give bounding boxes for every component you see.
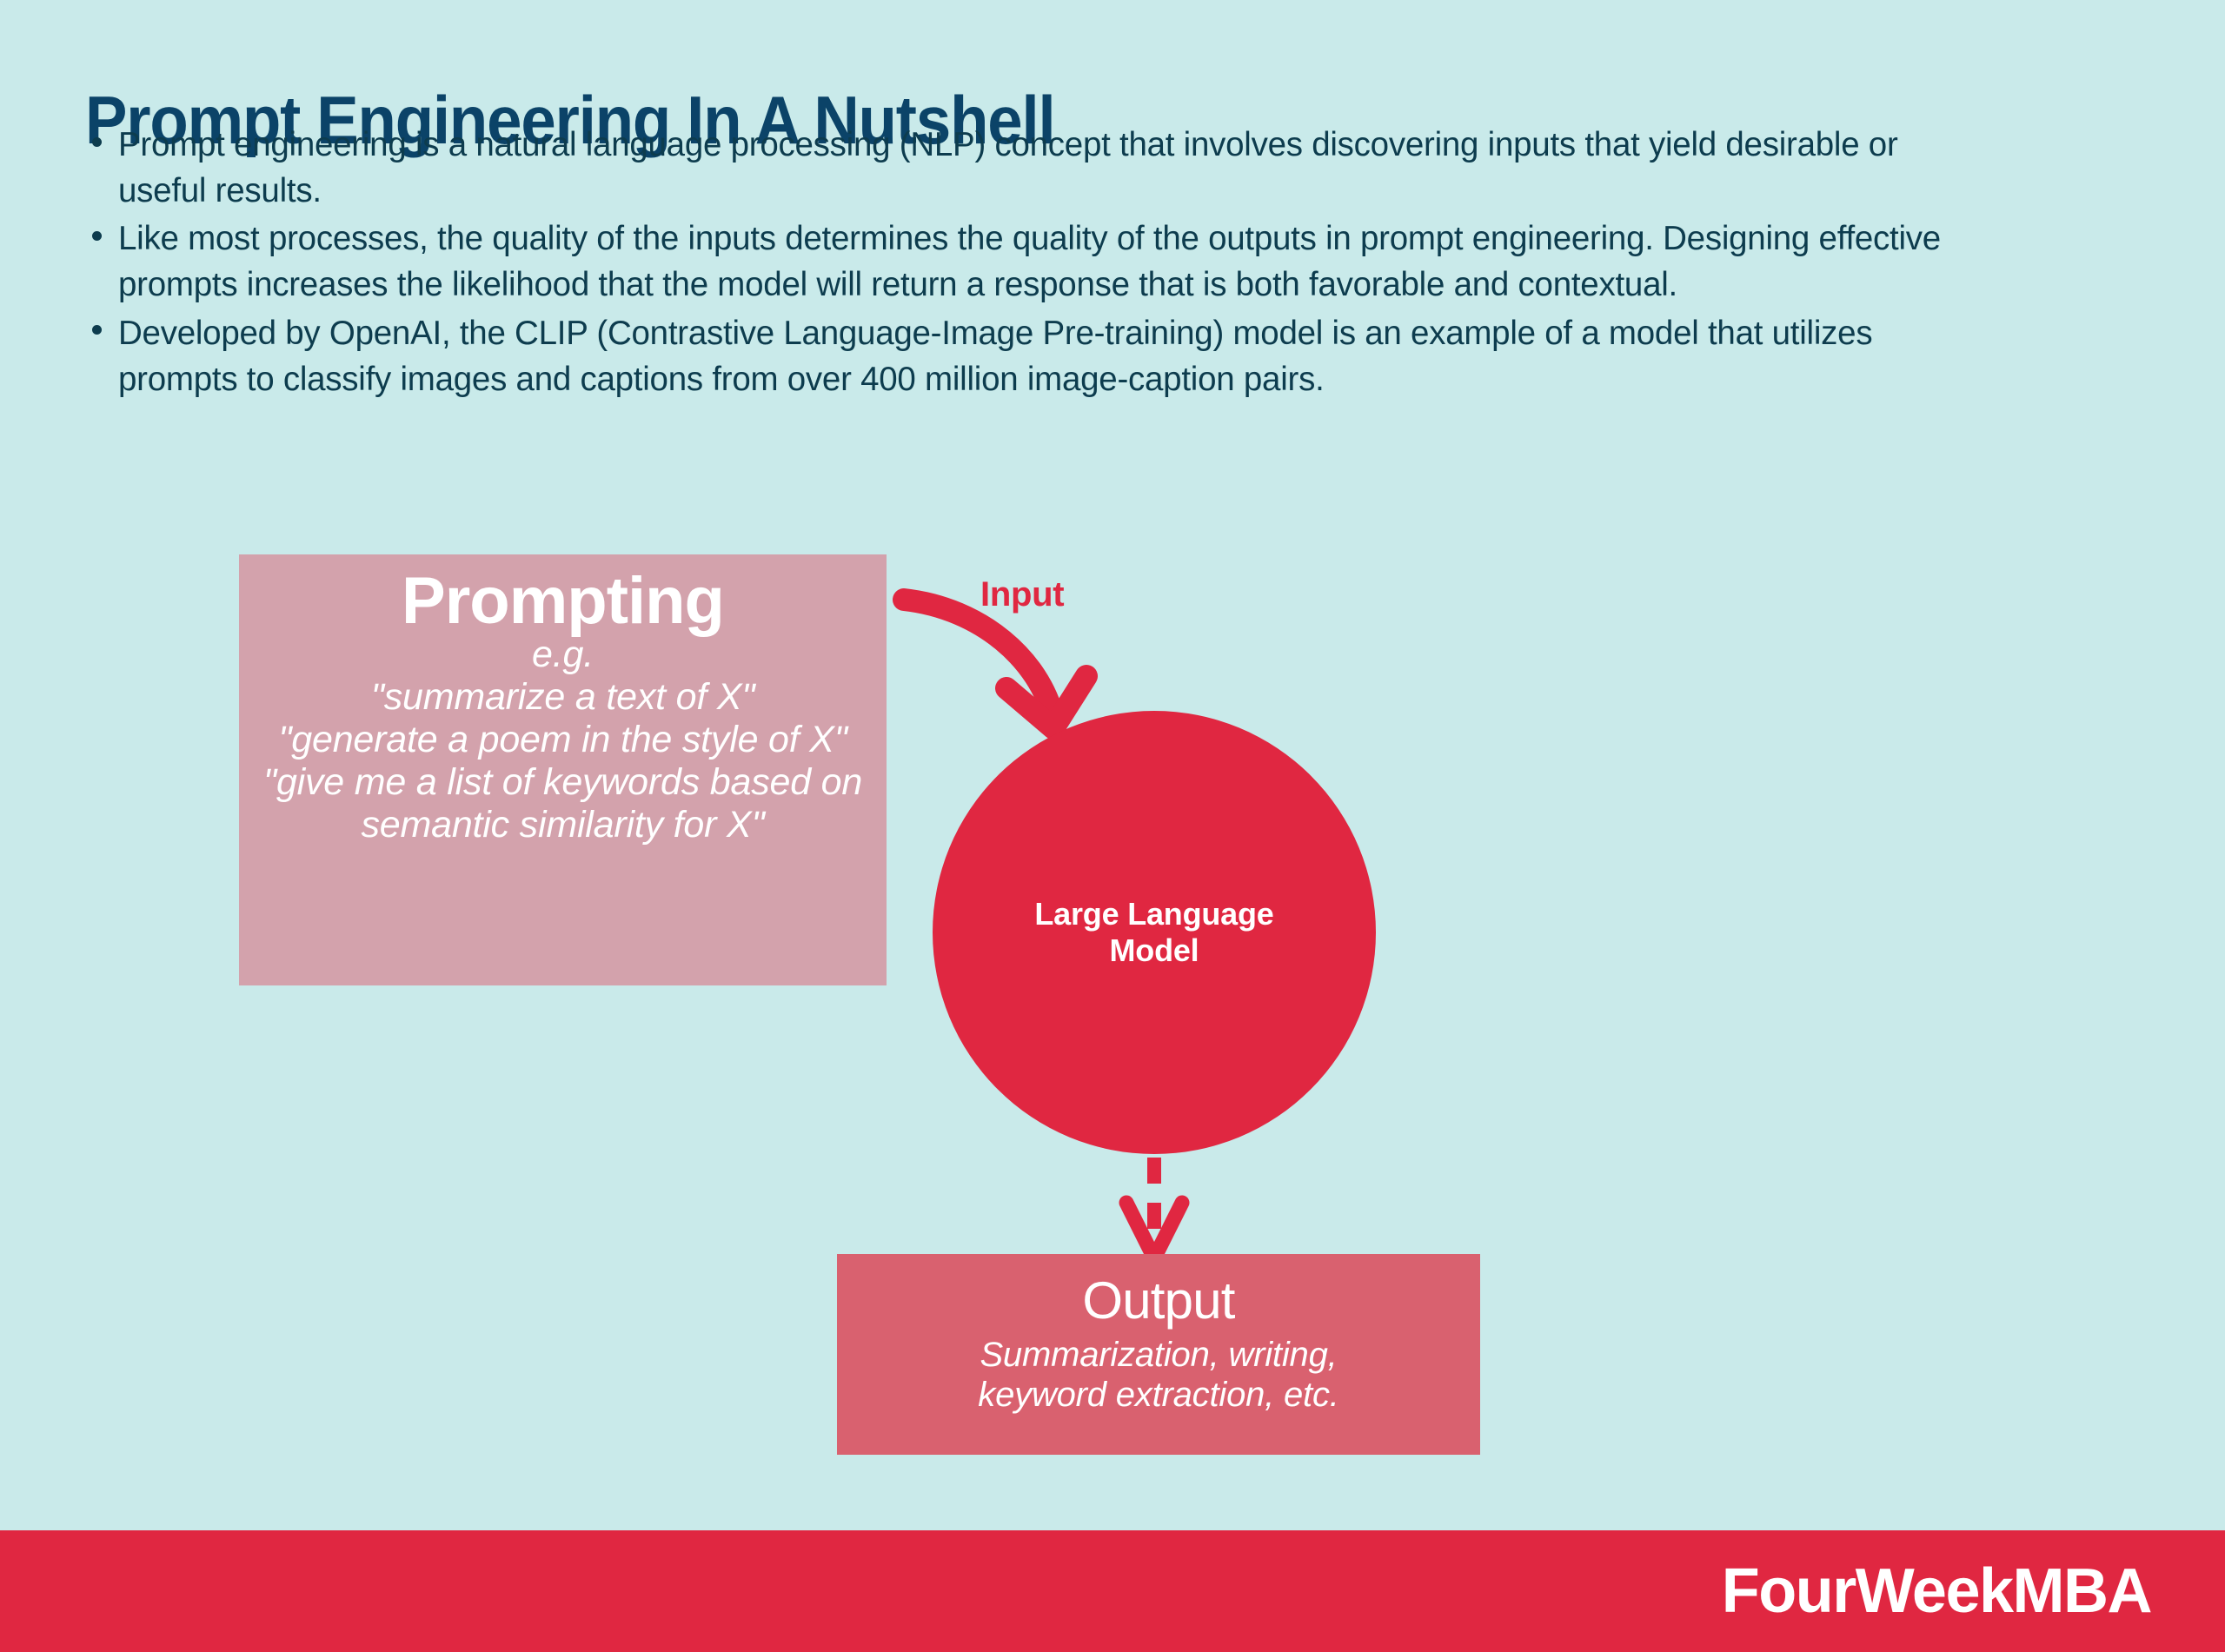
bullet-dot-icon xyxy=(92,231,102,241)
infographic-canvas: Prompt Engineering In A Nutshell Prompt … xyxy=(0,0,2225,1652)
llm-label: Large Language Model xyxy=(1034,896,1273,970)
prompting-eg-label: e.g. xyxy=(246,634,880,676)
prompting-box: Prompting e.g. "summarize a text of X" "… xyxy=(239,554,887,985)
footer-bar: FourWeekMBA xyxy=(0,1530,2225,1652)
output-box: Output Summarization, writing, keyword e… xyxy=(837,1254,1480,1455)
prompting-example: "give me a list of keywords based on sem… xyxy=(246,761,880,846)
bullet-text: Prompt engineering is a natural language… xyxy=(118,126,1898,209)
output-arrow-icon xyxy=(1126,1158,1182,1258)
input-arrow-label: Input xyxy=(980,575,1064,614)
input-arrow-icon xyxy=(904,600,1086,728)
bullet-dot-icon xyxy=(92,137,102,147)
bullet-list: Prompt engineering is a natural language… xyxy=(87,122,1982,404)
prompting-example: "generate a poem in the style of X" xyxy=(246,719,880,761)
bullet-text: Like most processes, the quality of the … xyxy=(118,220,1941,303)
brand-logo: FourWeekMBA xyxy=(1722,1556,2151,1627)
bullet-item: Like most processes, the quality of the … xyxy=(87,216,1982,308)
llm-circle: Large Language Model xyxy=(933,711,1376,1154)
prompting-example: "summarize a text of X" xyxy=(246,676,880,719)
prompting-title: Prompting xyxy=(246,567,880,637)
bullet-dot-icon xyxy=(92,325,102,335)
bullet-item: Prompt engineering is a natural language… xyxy=(87,122,1982,214)
bullet-item: Developed by OpenAI, the CLIP (Contrasti… xyxy=(87,310,1982,402)
output-title: Output xyxy=(837,1273,1480,1330)
output-subtitle: Summarization, writing, keyword extracti… xyxy=(837,1335,1480,1415)
bullet-text: Developed by OpenAI, the CLIP (Contrasti… xyxy=(118,315,1872,398)
